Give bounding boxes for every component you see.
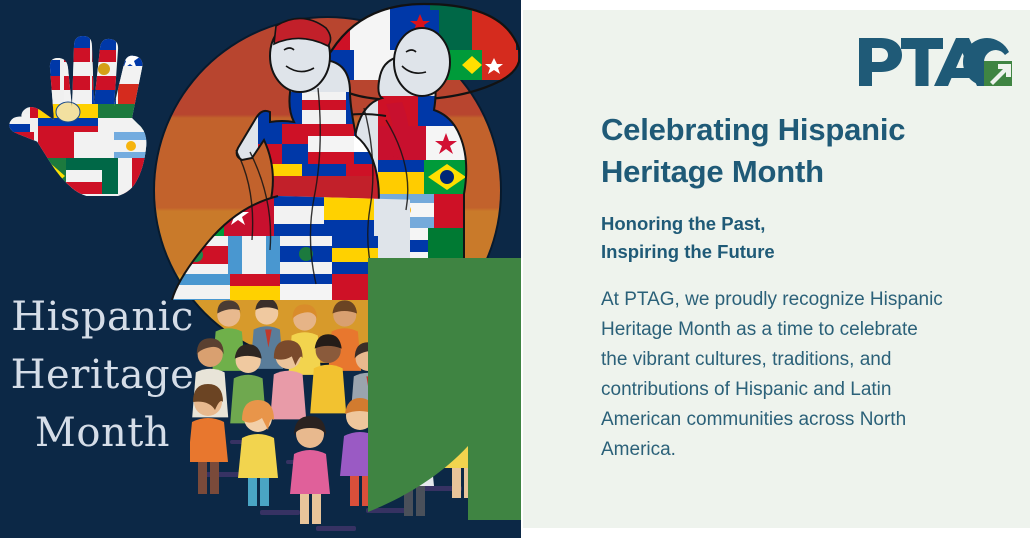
- body-paragraph: At PTAG, we proudly recognize Hispanic H…: [601, 285, 1013, 465]
- headline-line-1: Celebrating Hispanic: [601, 109, 1001, 151]
- couple-illustration: [150, 0, 520, 300]
- flag-handprint-icon: [8, 6, 158, 196]
- body-line-6: America.: [601, 435, 1013, 465]
- left-artwork-panel: Hispanic Heritage Month: [0, 0, 521, 538]
- body-line-2: Heritage Month as a time to celebrate: [601, 315, 1013, 345]
- body-line-3: the vibrant cultures, traditions, and: [601, 345, 1013, 375]
- body-line-1: At PTAG, we proudly recognize Hispanic: [601, 285, 1013, 315]
- left-title-line-3: Month: [0, 404, 205, 462]
- left-title: Hispanic Heritage Month: [0, 288, 205, 462]
- page-subtitle: Honoring the Past, Inspiring the Future: [601, 210, 1001, 266]
- green-arrow-graphic: [368, 258, 521, 520]
- ptag-logo[interactable]: [857, 30, 1012, 92]
- hispanic-heritage-banner: Hispanic Heritage Month Celebrating H: [0, 0, 1030, 538]
- subhead-line-2: Inspiring the Future: [601, 238, 1001, 266]
- right-content-panel: Celebrating Hispanic Heritage Month Hono…: [523, 10, 1030, 528]
- page-title: Celebrating Hispanic Heritage Month: [601, 109, 1001, 193]
- body-line-5: American communities across North: [601, 405, 1013, 435]
- left-title-line-1: Hispanic: [0, 288, 205, 346]
- body-line-4: contributions of Hispanic and Latin: [601, 375, 1013, 405]
- left-title-line-2: Heritage: [0, 346, 205, 404]
- subhead-line-1: Honoring the Past,: [601, 210, 1001, 238]
- headline-line-2: Heritage Month: [601, 151, 1001, 193]
